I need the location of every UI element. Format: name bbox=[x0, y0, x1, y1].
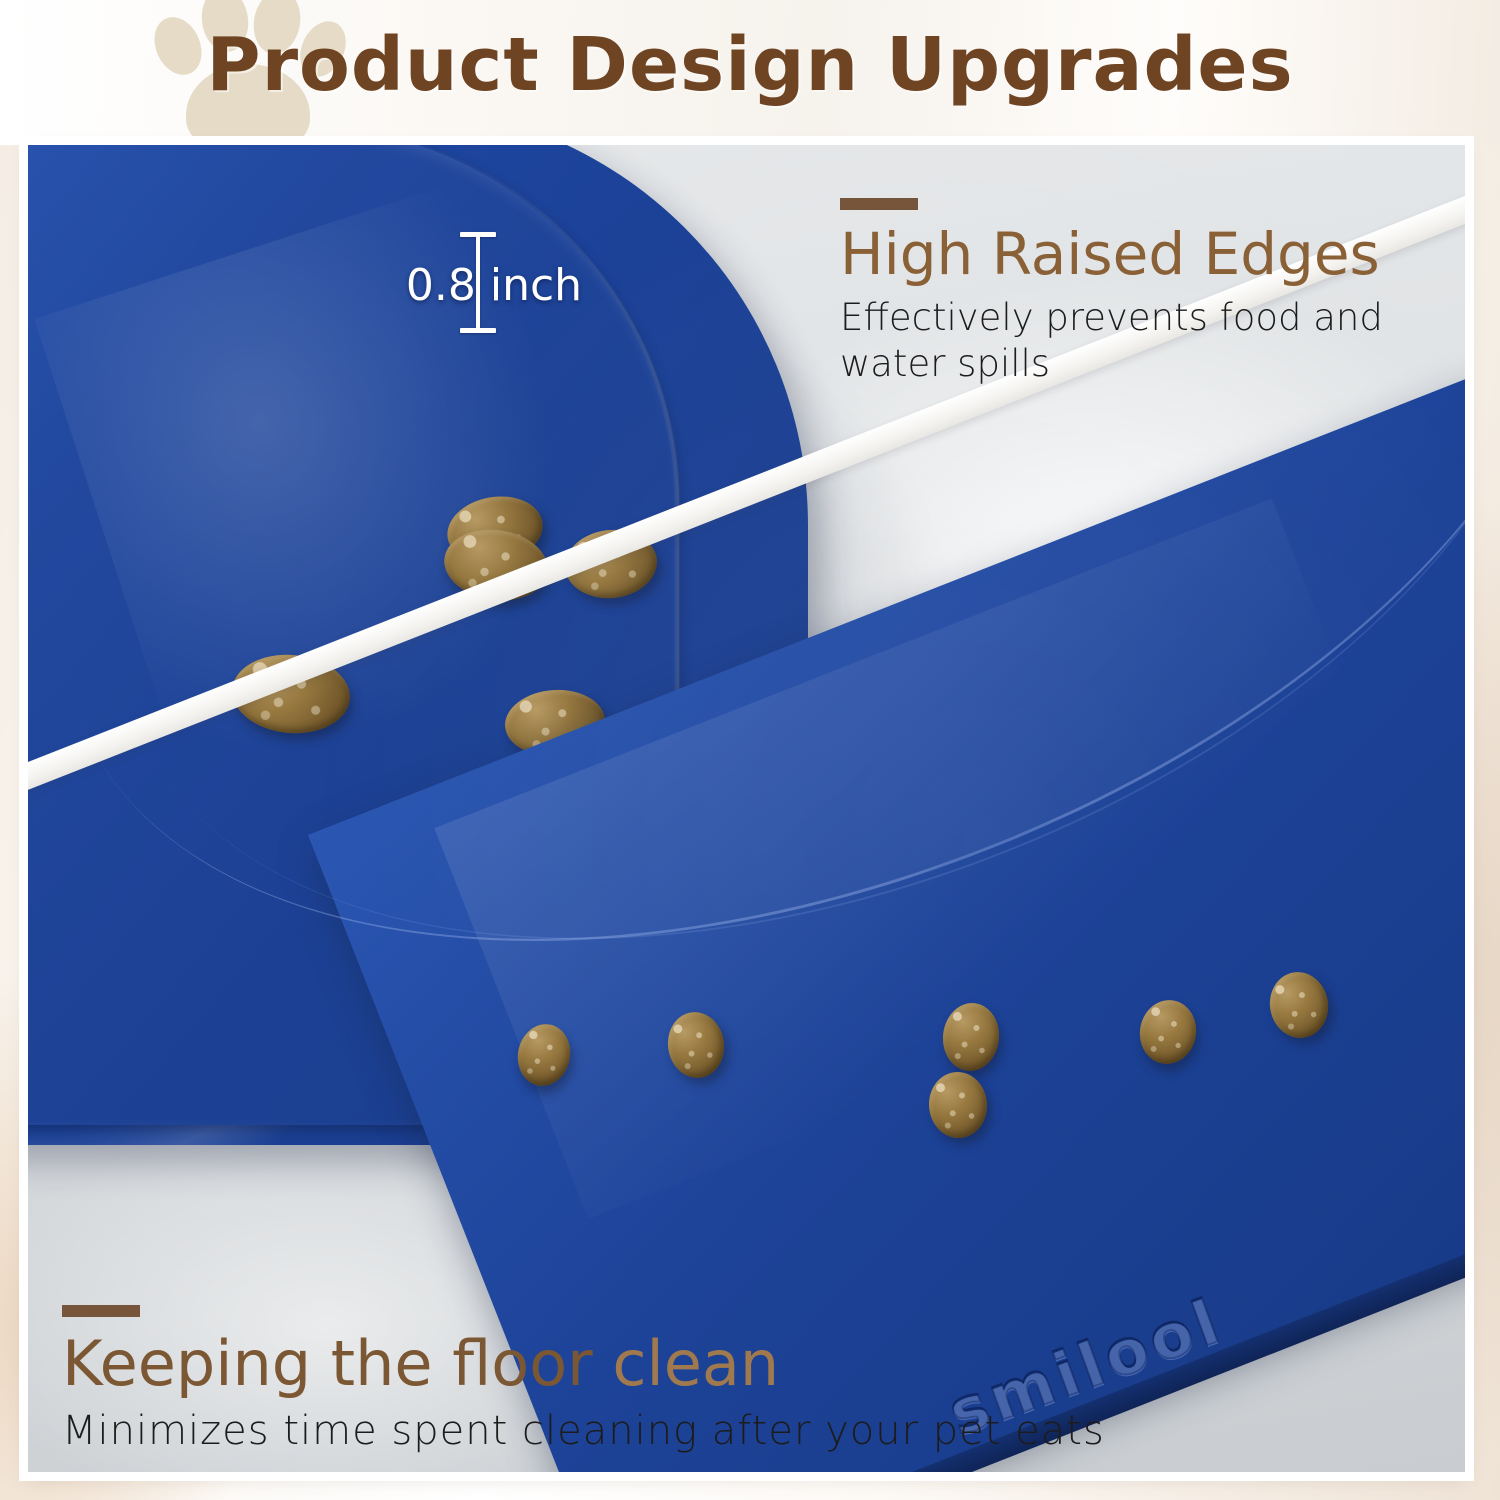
callout-keeping-floor-clean: Keeping the floor clean Minimizes time s… bbox=[62, 1305, 1262, 1456]
callout-heading-part1: Keeping the floor bbox=[62, 1327, 612, 1400]
callout-body: Minimizes time spent cleaning after your… bbox=[62, 1407, 1262, 1456]
callout-heading: High Raised Edges bbox=[840, 224, 1480, 285]
dimension-annotation: 0.8 inch bbox=[432, 232, 612, 342]
callout-heading-part2: clean bbox=[612, 1327, 779, 1400]
accent-bar bbox=[62, 1305, 140, 1317]
callout-heading: Keeping the floor clean bbox=[62, 1331, 1262, 1397]
accent-bar bbox=[840, 198, 918, 210]
dimension-label: 0.8 inch bbox=[394, 260, 594, 311]
header-banner: Product Design Upgrades bbox=[0, 0, 1500, 145]
product-feature-graphic: Product Design Upgrades bbox=[0, 0, 1500, 1500]
callout-body: Effectively prevents food and water spil… bbox=[840, 295, 1480, 385]
callout-high-raised-edges: High Raised Edges Effectively prevents f… bbox=[840, 198, 1480, 386]
dimension-cap-bottom bbox=[460, 328, 496, 333]
page-title: Product Design Upgrades bbox=[0, 22, 1500, 108]
